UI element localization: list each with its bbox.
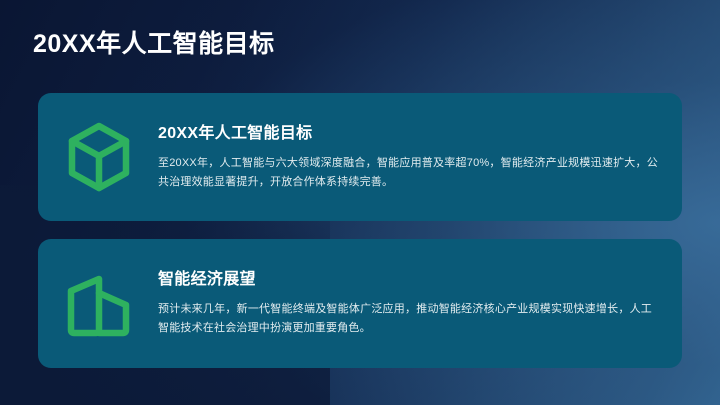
card-description: 预计未来几年，新一代智能终端及智能体广泛应用，推动智能经济核心产业规模实现快速增… — [158, 300, 652, 338]
card-body: 智能经济展望 预计未来几年，新一代智能终端及智能体广泛应用，推动智能经济核心产业… — [154, 269, 682, 338]
cube-icon — [56, 114, 142, 200]
content-card-goals[interactable]: 20XX年人工智能目标 至20XX年，人工智能与六大领域深度融合，智能应用普及率… — [38, 93, 682, 221]
buildings-icon — [56, 261, 142, 347]
slide-canvas: 20XX年人工智能目标 20XX年人工智能目标 至20XX年，人工智能与六大领域… — [0, 0, 720, 405]
card-heading: 智能经济展望 — [158, 269, 652, 291]
card-list: 20XX年人工智能目标 至20XX年，人工智能与六大领域深度融合，智能应用普及率… — [38, 93, 682, 368]
content-card-outlook[interactable]: 智能经济展望 预计未来几年，新一代智能终端及智能体广泛应用，推动智能经济核心产业… — [38, 239, 682, 368]
card-heading: 20XX年人工智能目标 — [158, 123, 658, 145]
page-title: 20XX年人工智能目标 — [33, 29, 275, 59]
card-description: 至20XX年，人工智能与六大领域深度融合，智能应用普及率超70%，智能经济产业规… — [158, 154, 658, 192]
card-body: 20XX年人工智能目标 至20XX年，人工智能与六大领域深度融合，智能应用普及率… — [154, 123, 682, 192]
